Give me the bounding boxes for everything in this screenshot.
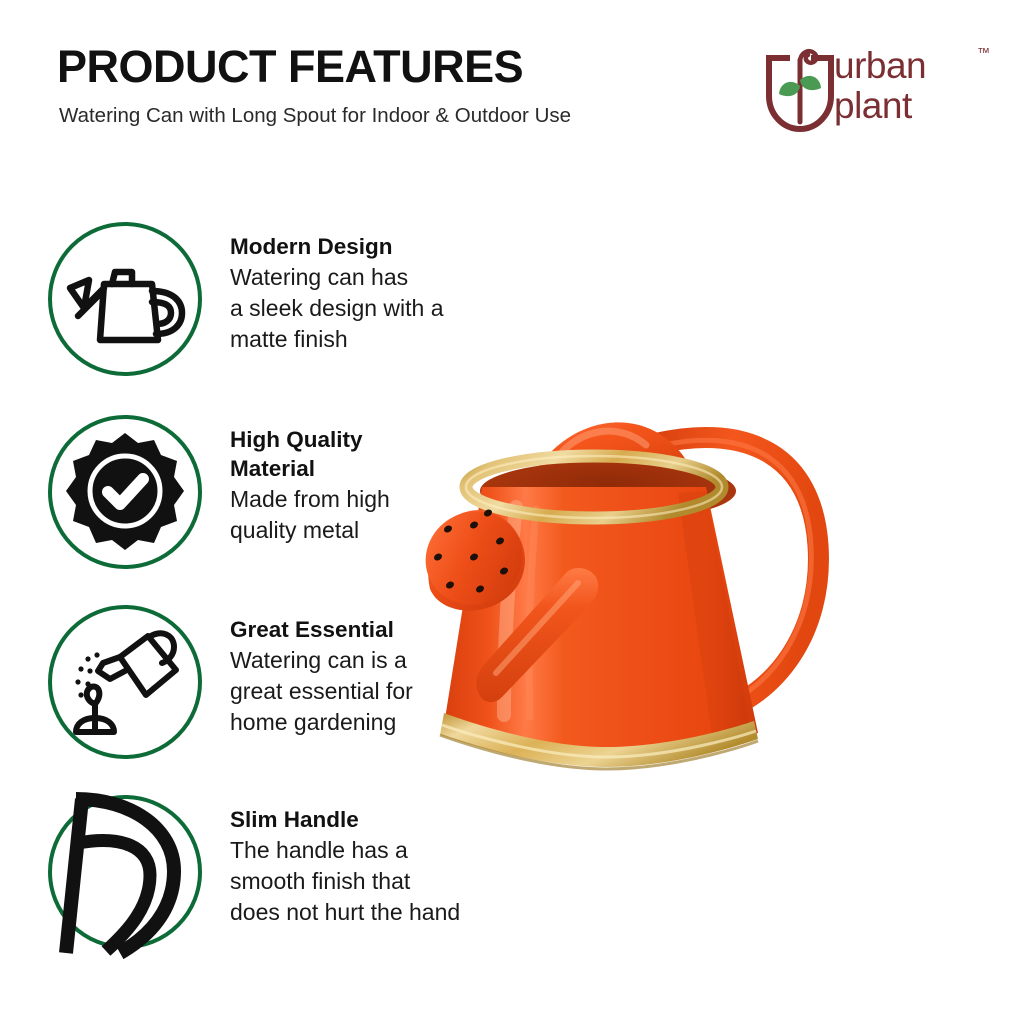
page-subtitle: Watering Can with Long Spout for Indoor …	[59, 106, 571, 127]
watering-plant-icon	[48, 605, 202, 759]
trademark-symbol: ™	[977, 46, 990, 59]
header: PRODUCT FEATURES Watering Can with Long …	[0, 0, 1024, 150]
logo-wordmark: urban plant ™	[834, 46, 988, 134]
product-features-infographic: PRODUCT FEATURES Watering Can with Long …	[0, 0, 1024, 1024]
page-title: PRODUCT FEATURES	[57, 44, 523, 89]
feature-body: The handle has a smooth finish that does…	[230, 835, 580, 928]
handle-loop-icon	[48, 795, 202, 949]
verified-badge-check-icon	[48, 415, 202, 569]
feature-icon-badge	[48, 415, 202, 569]
feature-icon-badge	[48, 222, 202, 376]
logo-word-urban: urban	[834, 46, 988, 86]
feature-text-block: Slim Handle The handle has a smooth fini…	[230, 805, 580, 928]
feature-icon-badge	[48, 605, 202, 759]
feature-text-block: Modern Design Watering can has a sleek d…	[230, 232, 580, 355]
spade-with-leaves-icon	[762, 46, 838, 132]
brand-logo: urban plant ™	[762, 44, 988, 136]
logo-word-plant: plant	[834, 86, 988, 126]
watering-can-icon	[48, 222, 202, 376]
feature-heading: Modern Design	[230, 232, 580, 261]
feature-icon-badge	[48, 795, 202, 949]
orange-watering-can-photo	[420, 395, 1024, 815]
feature-body: Watering can has a sleek design with a m…	[230, 262, 580, 355]
